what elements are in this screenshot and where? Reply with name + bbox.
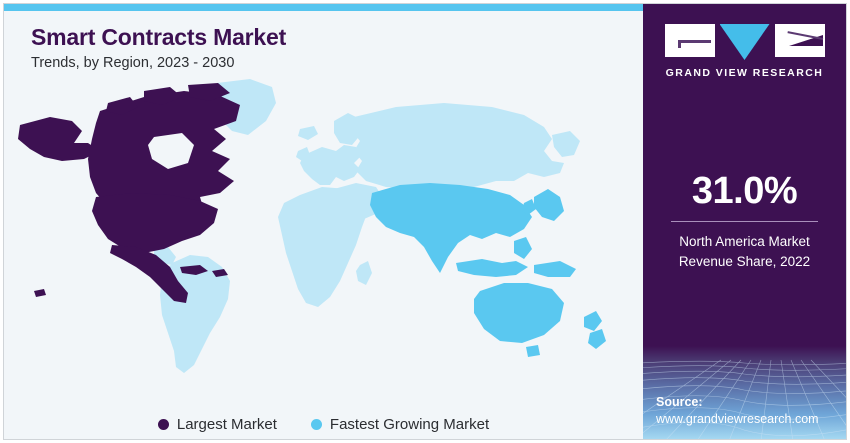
source-credit: Source: www.grandviewresearch.com: [656, 394, 819, 428]
logo-r-mark-icon: [775, 24, 825, 57]
brand-logo: GRAND VIEW RESEARCH: [643, 24, 846, 79]
stat-label-line-2: Revenue Share, 2022: [643, 252, 846, 272]
logo-v-triangle-icon: [720, 24, 770, 60]
top-accent-bar: [4, 4, 643, 11]
stat-label-line-1: North America Market: [643, 232, 846, 252]
page-subtitle: Trends, by Region, 2023 - 2030: [31, 55, 591, 72]
map-region-asia-pacific: [370, 183, 606, 357]
legend-dot-icon: [158, 419, 169, 430]
source-label: Source:: [656, 394, 819, 411]
legend-dot-icon: [311, 419, 322, 430]
logo-marks: [665, 24, 825, 60]
map-legend: Largest Market Fastest Growing Market: [4, 409, 643, 439]
legend-item-largest-market: Largest Market: [158, 417, 277, 432]
map-pane: Smart Contracts Market Trends, by Region…: [4, 11, 643, 440]
world-map: [4, 77, 643, 397]
logo-g-mark-icon: [665, 24, 715, 57]
legend-label: Fastest Growing Market: [330, 417, 489, 432]
infographic-card: Smart Contracts Market Trends, by Region…: [3, 3, 847, 440]
title-block: Smart Contracts Market Trends, by Region…: [31, 25, 591, 72]
stat-callout: 31.0% North America Market Revenue Share…: [643, 172, 846, 271]
stat-divider: [671, 221, 818, 222]
stat-value: 31.0%: [643, 172, 846, 210]
perspective-grid-graphic: Source: www.grandviewresearch.com: [643, 346, 846, 440]
brand-pane: GRAND VIEW RESEARCH 31.0% North America …: [643, 4, 846, 440]
brand-name: GRAND VIEW RESEARCH: [666, 67, 824, 79]
legend-item-fastest-growing-market: Fastest Growing Market: [311, 417, 489, 432]
legend-label: Largest Market: [177, 417, 277, 432]
source-url: www.grandviewresearch.com: [656, 411, 819, 428]
page-title: Smart Contracts Market: [31, 25, 591, 51]
